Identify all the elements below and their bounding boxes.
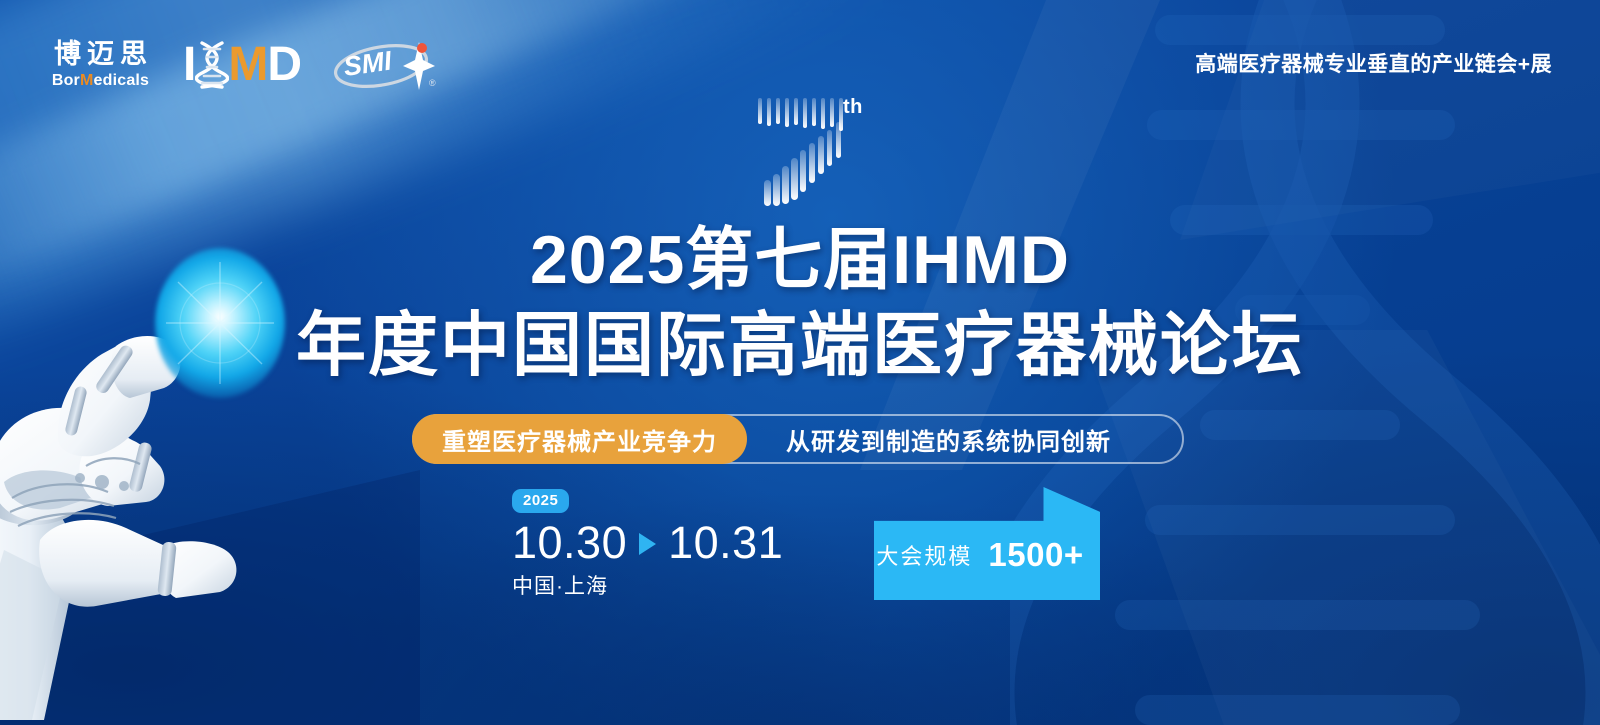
background-facet — [1180, 0, 1600, 240]
logo-ihmd[interactable]: I M D — [183, 40, 301, 90]
seventh-edition-ordinal: th — [843, 96, 863, 119]
logo-ihmd-letter-i: I — [183, 41, 195, 89]
tagline: 高端医疗器械专业垂直的产业链会+展 — [1195, 48, 1552, 78]
event-date-range: 10.30 10.31 — [512, 519, 783, 566]
scale-ribbon: 大会规模 1500+ — [874, 487, 1100, 600]
event-title-line2: 年度中国国际高端医疗器械论坛 — [0, 310, 1600, 380]
logo-bormedicals-en-suffix: edicals — [94, 72, 150, 89]
logo-ihmd-letter-d: D — [267, 41, 301, 89]
date-range-arrow-icon — [639, 533, 656, 555]
event-location: 中国·上海 — [512, 570, 783, 600]
subtitle-pill: 重塑医疗器械产业竞争力 — [412, 414, 747, 464]
scale-value: 1500+ — [988, 536, 1083, 574]
dna-helix-icon — [195, 40, 229, 90]
scale-ribbon-content: 大会规模 1500+ — [874, 523, 1086, 587]
logo-bormedicals-en-accent: M — [80, 72, 94, 89]
subtitle-strip: 重塑医疗器械产业竞争力 从研发到制造的系统协同创新 — [412, 414, 1184, 464]
event-title-line1: 2025第七届IHMD — [0, 226, 1600, 294]
background-facet — [0, 470, 420, 725]
event-date-end: 10.31 — [668, 519, 783, 566]
scale-label: 大会规模 — [876, 539, 972, 571]
logo-bormedicals-cn: 博迈思 — [48, 41, 153, 68]
logo-row: 博迈思 BorMedicals I — [48, 36, 439, 94]
smi-registered-mark: ® — [429, 78, 436, 88]
logo-bormedicals-en-prefix: Bor — [52, 72, 80, 89]
event-date-start: 10.30 — [512, 519, 627, 566]
event-date-block: 2025 10.30 10.31 中国·上海 — [512, 489, 783, 600]
logo-smi[interactable]: SMI ® — [331, 36, 439, 94]
logo-ihmd-letter-m: M — [228, 41, 267, 89]
subtitle-secondary: 从研发到制造的系统协同创新 — [786, 422, 1111, 457]
logo-bormedicals[interactable]: 博迈思 BorMedicals — [48, 41, 153, 89]
event-year-badge: 2025 — [512, 489, 569, 513]
background-facet — [1080, 330, 1600, 725]
svg-text:SMI: SMI — [342, 45, 394, 81]
conference-banner: 博迈思 BorMedicals I — [0, 0, 1600, 725]
logo-bormedicals-en: BorMedicals — [52, 73, 149, 89]
